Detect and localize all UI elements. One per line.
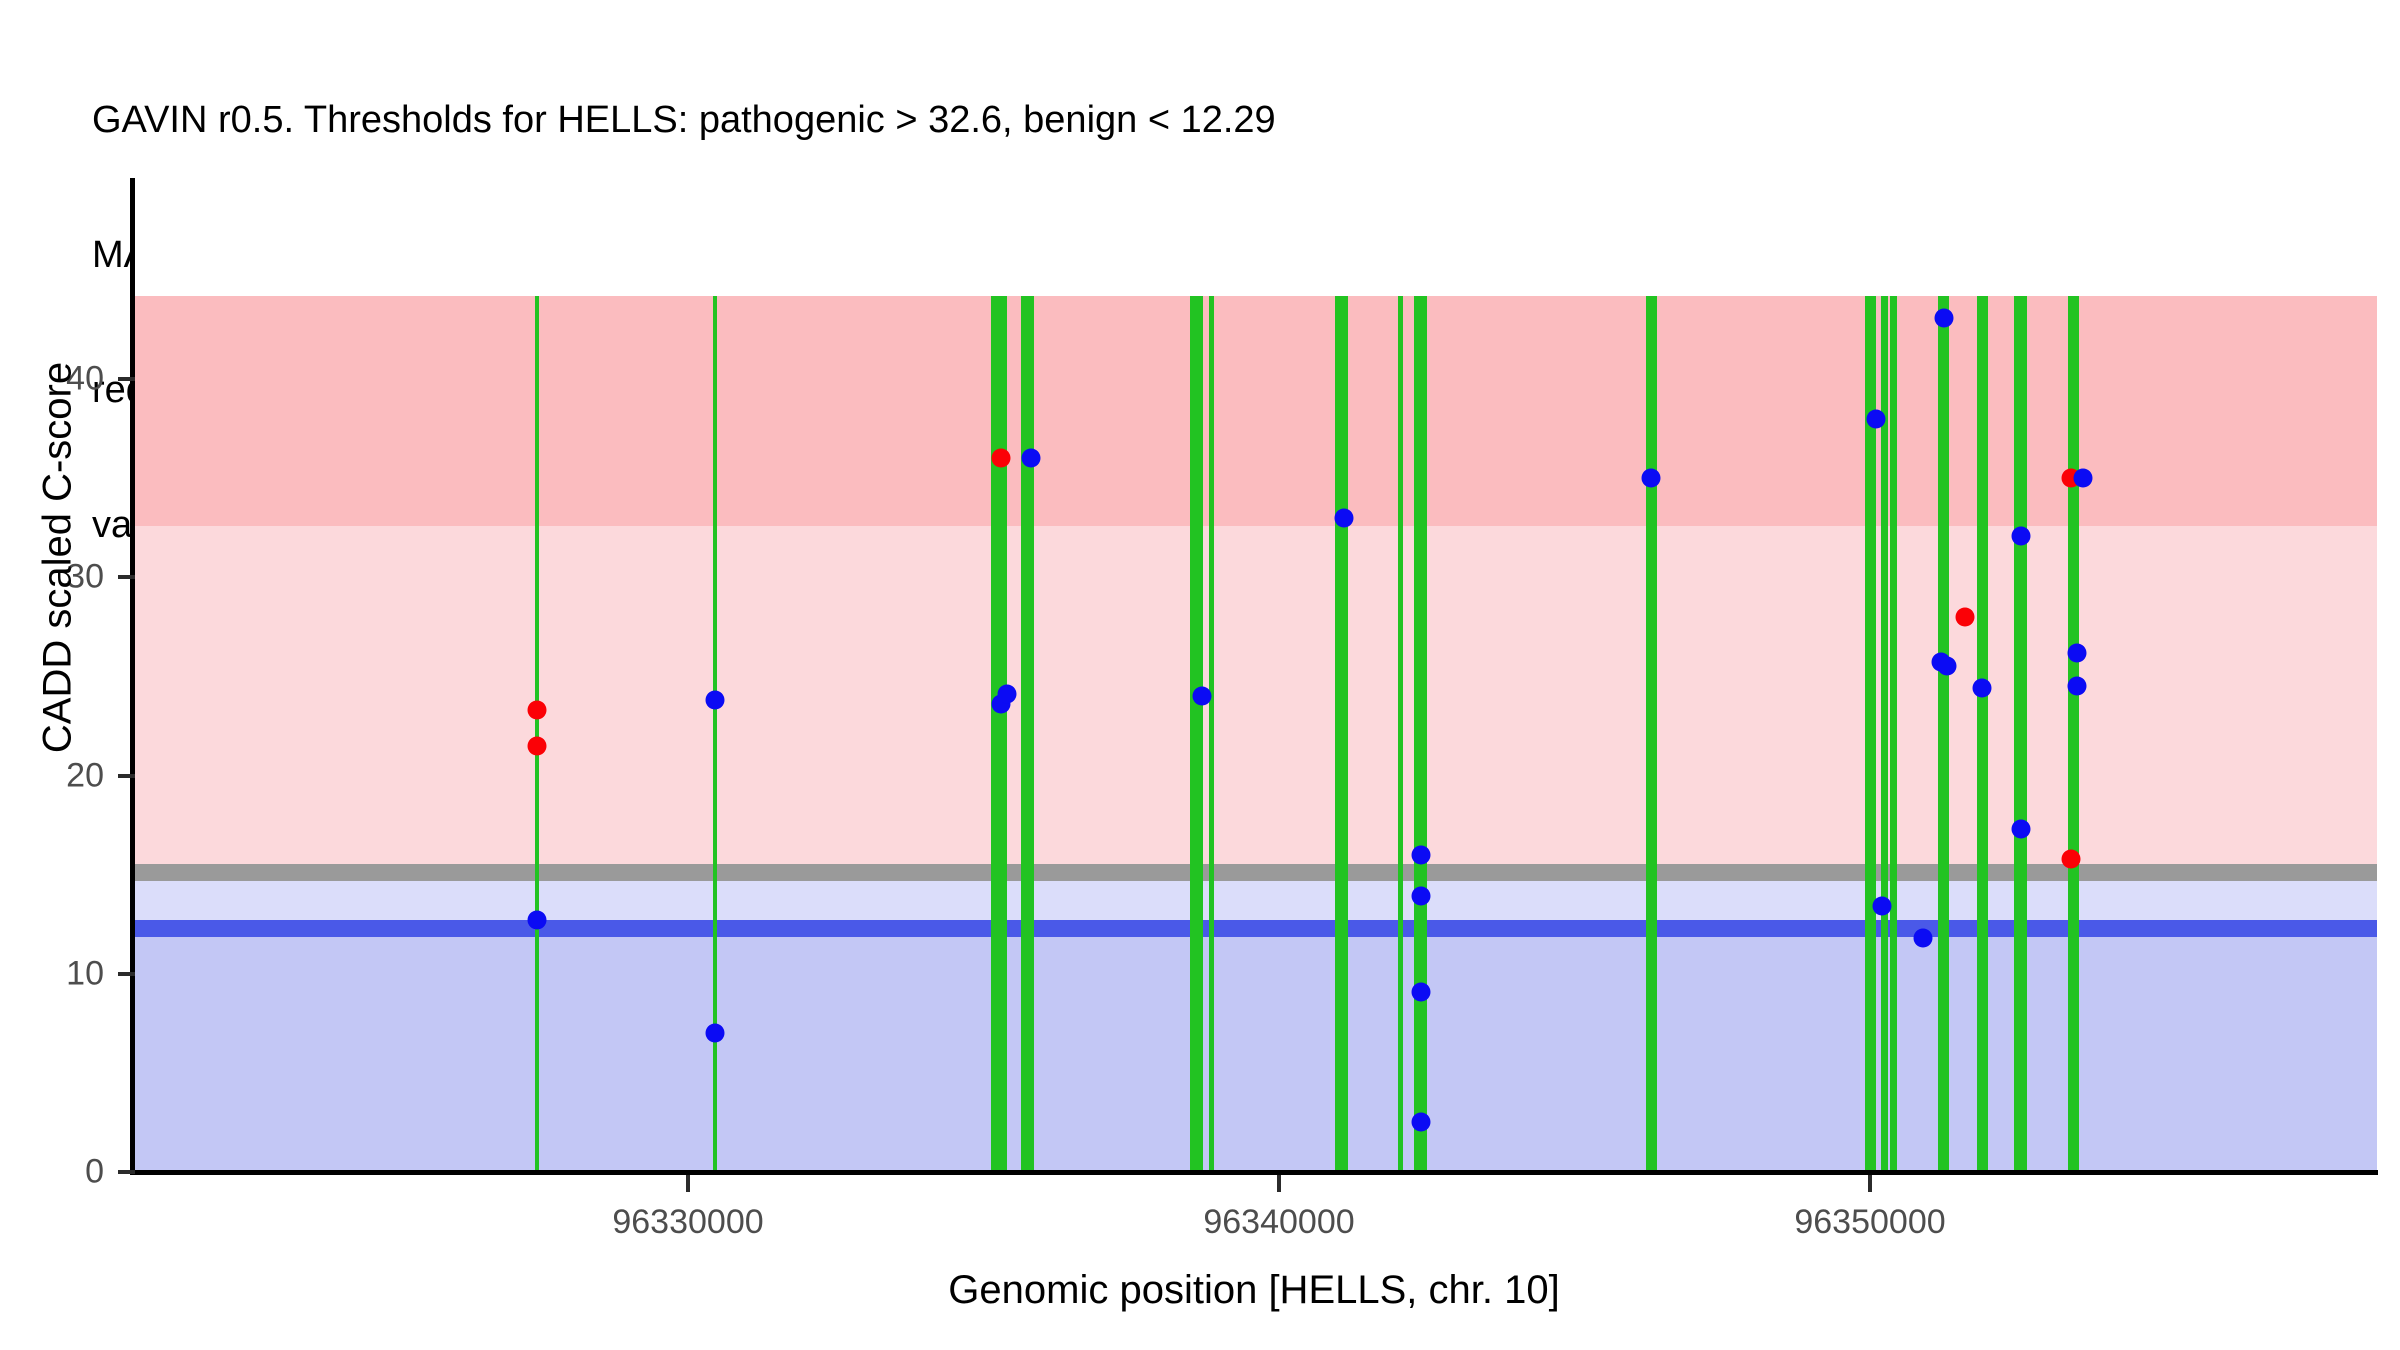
- gnomad-variant-point: [2073, 469, 2092, 488]
- gnomad-variant-point: [1411, 887, 1430, 906]
- band-fallback-threshold: [134, 864, 2377, 881]
- title-line-1: GAVIN r0.5. Thresholds for HELLS: pathog…: [92, 98, 2352, 143]
- gnomad-variant-point: [1411, 845, 1430, 864]
- refseq-exon-line: [2068, 296, 2079, 1172]
- y-axis-tick-label: 10: [14, 954, 104, 993]
- band-benign: [134, 937, 2377, 1172]
- refseq-exon-line: [1209, 296, 1214, 1172]
- refseq-exon-line: [535, 296, 539, 1172]
- clinvar-variant-point: [528, 736, 547, 755]
- gnomad-variant-point: [1872, 897, 1891, 916]
- band-benign-grey-to-blue: [134, 881, 2377, 920]
- gnomad-variant-point: [1411, 982, 1430, 1001]
- y-axis-tick: [118, 774, 135, 778]
- gnomad-variant-point: [1021, 449, 1040, 468]
- refseq-exon-line: [1977, 296, 1988, 1172]
- x-axis-tick-label: 96330000: [612, 1203, 763, 1242]
- gnomad-variant-point: [1642, 469, 1661, 488]
- x-axis-line: [130, 1170, 2378, 1175]
- gnomad-variant-point: [1411, 1113, 1430, 1132]
- refseq-exon-line: [1335, 296, 1348, 1172]
- gnomad-variant-point: [1914, 929, 1933, 948]
- gnomad-variant-point: [2067, 643, 2086, 662]
- refseq-exon-line: [1001, 296, 1007, 1172]
- y-axis-tick-label: 0: [14, 1153, 104, 1192]
- gnomad-variant-point: [528, 911, 547, 930]
- x-axis-tick-label: 96340000: [1203, 1203, 1354, 1242]
- gnomad-variant-point: [1193, 687, 1212, 706]
- gnomad-variant-point: [705, 691, 724, 710]
- gnomad-variant-point: [1934, 308, 1953, 327]
- clinvar-variant-point: [528, 701, 547, 720]
- y-axis-tick: [118, 377, 135, 381]
- refseq-exon-line: [1646, 296, 1657, 1172]
- band-pathogenic: [134, 296, 2377, 526]
- gnomad-variant-point: [2011, 526, 2030, 545]
- refseq-exon-line: [1021, 296, 1034, 1172]
- refseq-exon-line: [1190, 296, 1203, 1172]
- gnomad-variant-point: [2067, 677, 2086, 696]
- gnomad-variant-point: [1973, 679, 1992, 698]
- gnomad-variant-point: [998, 685, 1017, 704]
- refseq-exon-line: [1890, 296, 1897, 1172]
- y-axis-label: CADD scaled C-score: [36, 178, 81, 938]
- y-axis-line: [130, 178, 135, 1174]
- refseq-exon-line: [1414, 296, 1427, 1172]
- refseq-exon-line: [1938, 296, 1949, 1172]
- x-axis-tick-label: 96350000: [1794, 1203, 1945, 1242]
- y-axis-tick: [118, 972, 135, 976]
- clinvar-variant-point: [992, 449, 1011, 468]
- clinvar-variant-point: [2061, 849, 2080, 868]
- x-axis-tick: [686, 1175, 690, 1192]
- chart-root: GAVIN r0.5. Thresholds for HELLS: pathog…: [0, 0, 2400, 1350]
- band-benign-threshold: [134, 920, 2377, 937]
- x-axis-tick: [1868, 1175, 1872, 1192]
- x-axis-label: Genomic position [HELLS, chr. 10]: [130, 1268, 2378, 1313]
- refseq-exon-line: [1398, 296, 1403, 1172]
- gnomad-variant-point: [1937, 657, 1956, 676]
- band-vus: [134, 526, 2377, 873]
- gnomad-variant-point: [705, 1024, 724, 1043]
- gnomad-variant-point: [1866, 409, 1885, 428]
- gnomad-variant-point: [2011, 820, 2030, 839]
- refseq-exon-line: [2014, 296, 2027, 1172]
- refseq-exon-line: [1881, 296, 1888, 1172]
- clinvar-variant-point: [1955, 607, 1974, 626]
- x-axis-tick: [1277, 1175, 1281, 1192]
- y-axis-tick: [118, 1170, 135, 1174]
- y-axis-tick: [118, 575, 135, 579]
- plot-panel: [134, 178, 2377, 1172]
- gnomad-variant-point: [1335, 508, 1354, 527]
